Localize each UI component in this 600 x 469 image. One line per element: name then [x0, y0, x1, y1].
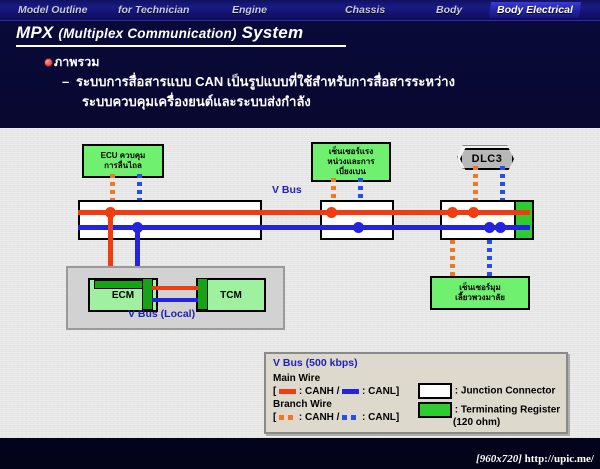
- dash-marker-icon: –: [62, 72, 76, 92]
- node-dlc3[interactable]: DLC3: [460, 148, 514, 170]
- legend-junction-connector-label: : Junction Connector: [455, 386, 556, 397]
- local-wire-canl: [152, 298, 198, 302]
- overview-heading: ภาพรวม: [40, 52, 99, 72]
- page-title-tail: System: [242, 23, 304, 42]
- legend-main-wire-open: [: [273, 386, 276, 397]
- swatch-canh-solid-icon: [279, 389, 296, 394]
- overview-body-line2: ระบบควบคุมเครื่องยนต์และระบบส่งกำลัง: [82, 92, 582, 112]
- overview-body-line1: ระบบการสื่อสารแบบ CAN เป็นรูปแบบที่ใช้สำ…: [76, 74, 455, 89]
- drop-canh-to-ecm: [108, 210, 113, 272]
- legend-branch-wire-label: Branch Wire: [273, 399, 332, 410]
- slide: Model Outline for Technician Engine Chas…: [0, 0, 600, 469]
- footer-url: http://upic.me/: [525, 453, 594, 465]
- node-skid-control-ecu-line1: ECU ควบคุม: [101, 151, 146, 161]
- legend-terminating-register-sub: (120 ohm): [453, 417, 500, 428]
- legend-main-wire-canl: : CANL]: [362, 386, 399, 397]
- swatch-terminating-register-icon: [418, 402, 452, 418]
- nav-item-engine[interactable]: Engine: [232, 2, 267, 18]
- terminating-register-tcm[interactable]: [197, 278, 208, 310]
- legend-branch-wire-open: [: [273, 412, 276, 423]
- node-dlc3-wrap: DLC3: [460, 148, 510, 166]
- branch-canh-yaw-sensor: [331, 178, 336, 202]
- mpx-network-diagram: ECU ควบคุม การลื่นไถล เซ็นเซอร์แรง หน่วง…: [0, 128, 600, 438]
- nav-item-model-outline[interactable]: Model Outline: [18, 2, 87, 18]
- node-deceleration-yaw-sensor-line2: หน่วงและการ: [327, 157, 374, 167]
- legend-terminating-register-row: : Terminating Register: [418, 402, 560, 418]
- nav-item-body-electrical[interactable]: Body Electrical: [489, 2, 581, 18]
- junction-dot-canh-1: [105, 207, 116, 218]
- nav-item-for-technician[interactable]: for Technician: [118, 2, 189, 18]
- ecm-top-bar: [94, 280, 144, 289]
- legend-title: V Bus (500 kbps): [273, 357, 358, 369]
- junction-connector-3[interactable]: [440, 200, 524, 240]
- terminating-register-ecm[interactable]: [142, 278, 153, 310]
- legend-panel: V Bus (500 kbps) Main Wire [ : CANH / : …: [264, 352, 568, 434]
- node-deceleration-yaw-sensor-line3: เบี่ยงเบน: [327, 167, 374, 177]
- legend-branch-wire-canh: : CANH /: [299, 412, 340, 423]
- legend-main-wire-row: [ : CANH / : CANL]: [273, 386, 399, 397]
- legend-terminating-register-label: : Terminating Register: [455, 405, 560, 416]
- title-underline: [16, 45, 346, 47]
- node-steering-angle-sensor-line1: เซ็นเซอร์มุม: [455, 283, 505, 293]
- local-wire-canh: [152, 286, 198, 290]
- junction-dot-canh-3: [447, 207, 458, 218]
- main-wire-canl: [78, 225, 530, 230]
- swatch-canl-dashed-icon: [342, 415, 359, 420]
- page-title-paren: (Multiplex Communication): [58, 26, 236, 41]
- junction-connector-2[interactable]: [320, 200, 394, 240]
- node-steering-angle-sensor[interactable]: เซ็นเซอร์มุม เลี้ยวพวงมาลัย: [430, 276, 530, 310]
- overview-heading-label: ภาพรวม: [54, 55, 99, 69]
- swatch-junction-connector-icon: [418, 383, 452, 399]
- node-steering-angle-sensor-line2: เลี้ยวพวงมาลัย: [455, 293, 505, 303]
- swatch-canh-dashed-icon: [279, 415, 296, 420]
- junction-connector-1[interactable]: [78, 200, 262, 240]
- nav-item-body[interactable]: Body: [436, 2, 462, 18]
- vbus-local-label: V Bus (Local): [128, 308, 195, 320]
- junction-dot-canh-2: [326, 207, 337, 218]
- junction-dot-canl-1: [132, 222, 143, 233]
- node-deceleration-yaw-sensor[interactable]: เซ็นเซอร์แรง หน่วงและการ เบี่ยงเบน: [311, 142, 391, 182]
- page-title-main: MPX: [16, 23, 53, 42]
- nav-item-body-electrical-label: Body Electrical: [497, 2, 573, 18]
- terminating-register-bus-right[interactable]: [514, 200, 534, 240]
- junction-dot-canl-4: [495, 222, 506, 233]
- legend-branch-wire-canl: : CANL]: [362, 412, 399, 423]
- junction-dot-canl-2: [353, 222, 364, 233]
- main-wire-canh: [78, 210, 530, 215]
- node-deceleration-yaw-sensor-line1: เซ็นเซอร์แรง: [327, 147, 374, 157]
- swatch-canl-solid-icon: [342, 389, 359, 394]
- footer-dimensions: [960x720]: [476, 453, 522, 465]
- nav-item-chassis[interactable]: Chassis: [345, 2, 385, 18]
- junction-dot-canh-4: [468, 207, 479, 218]
- legend-junction-connector-row: : Junction Connector: [418, 383, 555, 399]
- footer-watermark: [960x720] http://upic.me/: [476, 453, 594, 465]
- overview-body: –ระบบการสื่อสารแบบ CAN เป็นรูปแบบที่ใช้ส…: [62, 72, 582, 112]
- legend-branch-wire-row: [ : CANH / : CANL]: [273, 412, 399, 423]
- branch-canh-dlc3: [473, 166, 478, 202]
- vbus-label: V Bus: [272, 184, 302, 196]
- junction-dot-canl-3: [484, 222, 495, 233]
- node-skid-control-ecu-line2: การลื่นไถล: [101, 161, 146, 171]
- legend-main-wire-label: Main Wire: [273, 373, 320, 384]
- top-navigation-bar: Model Outline for Technician Engine Chas…: [0, 0, 600, 21]
- branch-canh-skid-ecu: [110, 174, 115, 202]
- page-title: MPX (Multiplex Communication) System: [16, 23, 303, 43]
- node-skid-control-ecu[interactable]: ECU ควบคุม การลื่นไถล: [82, 144, 164, 178]
- legend-main-wire-canh: : CANH /: [299, 386, 340, 397]
